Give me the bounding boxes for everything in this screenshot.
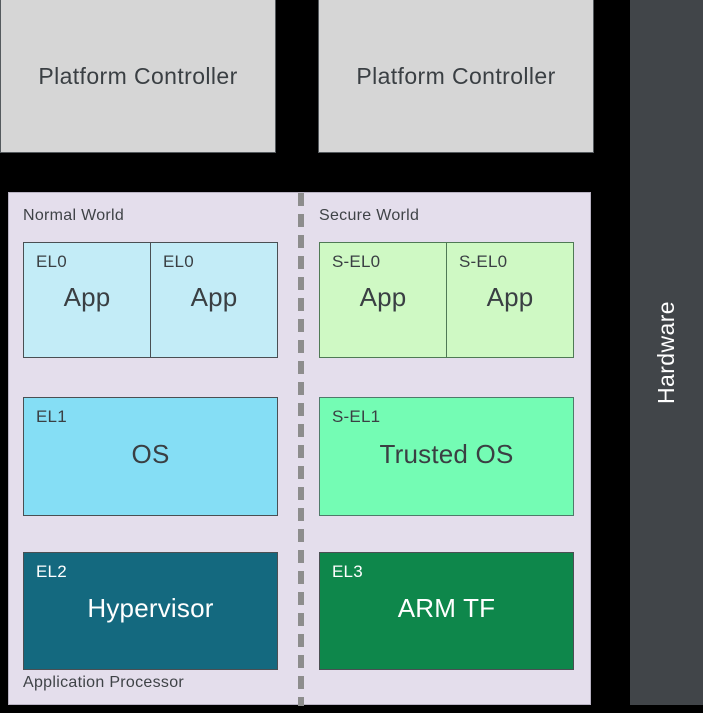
secure-world-app-box-1: S-EL0 App <box>319 242 447 358</box>
component-name: Hypervisor <box>24 593 277 624</box>
component-name: Trusted OS <box>320 439 573 470</box>
hardware-label: Hardware <box>653 301 680 404</box>
secure-world-trusted-os-box: S-EL1 Trusted OS <box>319 397 574 516</box>
exception-level-tag: EL3 <box>332 562 363 582</box>
component-name: App <box>151 282 277 313</box>
platform-controller-box-1: Platform Controller <box>0 0 276 153</box>
component-name: OS <box>24 439 277 470</box>
component-name: App <box>320 282 446 313</box>
secure-world-arm-trusted-firmware-box: EL3 ARM TF <box>319 552 574 670</box>
component-name: ARM TF <box>320 593 573 624</box>
exception-level-tag: EL0 <box>36 252 67 272</box>
architecture-diagram: Platform Controller Platform Controller … <box>0 0 703 713</box>
world-divider <box>298 193 304 706</box>
application-processor-panel: Normal World Secure World EL0 App EL0 Ap… <box>8 192 591 705</box>
exception-level-tag: EL1 <box>36 407 67 427</box>
platform-controller-label: Platform Controller <box>356 63 555 90</box>
exception-level-tag: S-EL0 <box>332 252 380 272</box>
exception-level-tag: S-EL0 <box>459 252 507 272</box>
normal-world-title: Normal World <box>23 207 124 225</box>
application-processor-caption: Application Processor <box>23 674 184 692</box>
exception-level-tag: EL0 <box>163 252 194 272</box>
normal-world-app-box-1: EL0 App <box>23 242 151 358</box>
normal-world-os-box: EL1 OS <box>23 397 278 516</box>
exception-level-tag: EL2 <box>36 562 67 582</box>
component-name: App <box>24 282 150 313</box>
platform-controller-label: Platform Controller <box>38 63 237 90</box>
platform-controller-box-2: Platform Controller <box>318 0 594 153</box>
secure-world-app-box-2: S-EL0 App <box>446 242 574 358</box>
component-name: App <box>447 282 573 313</box>
exception-level-tag: S-EL1 <box>332 407 380 427</box>
secure-world-title: Secure World <box>319 207 419 225</box>
normal-world-hypervisor-box: EL2 Hypervisor <box>23 552 278 670</box>
hardware-bar: Hardware <box>630 0 703 705</box>
normal-world-app-box-2: EL0 App <box>150 242 278 358</box>
